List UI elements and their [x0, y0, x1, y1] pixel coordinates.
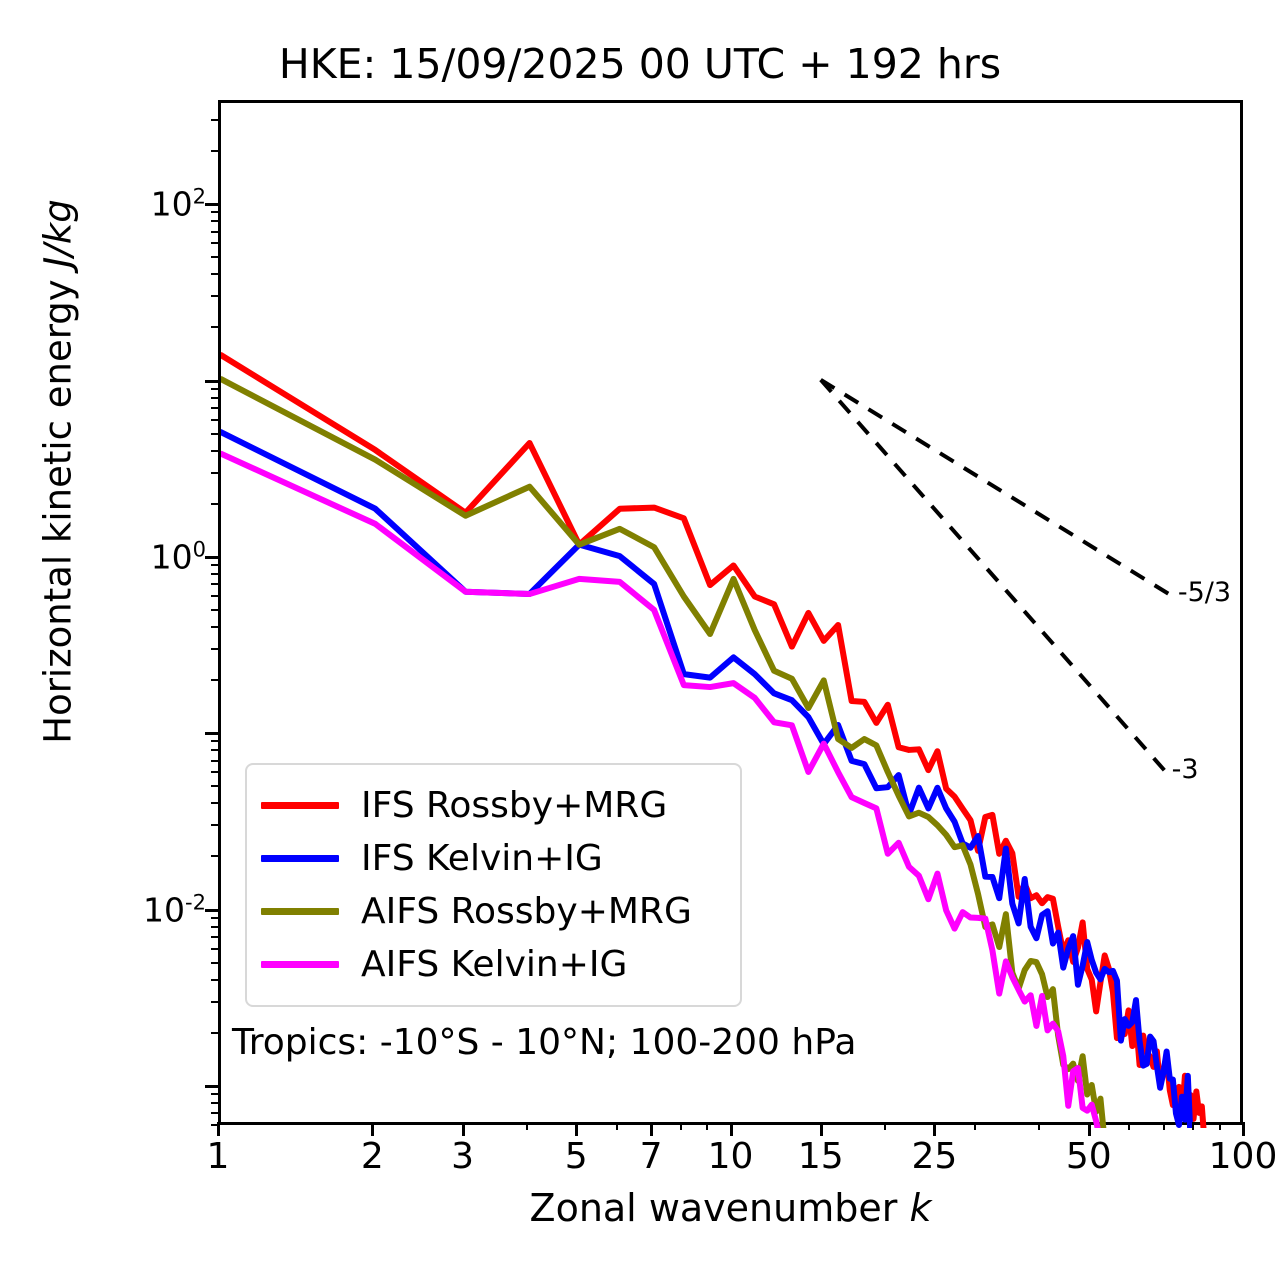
reference-slope-line	[821, 380, 1173, 597]
x-axis-tick-label: 7	[640, 1136, 663, 1177]
x-axis-tick	[371, 1122, 374, 1136]
y-axis-tick	[205, 556, 219, 559]
y-axis-minor-tick	[211, 771, 219, 773]
x-axis-minor-tick	[706, 1122, 708, 1130]
x-axis-tick-label: 2	[361, 1136, 384, 1177]
x-axis-tick	[730, 1122, 733, 1136]
x-axis-minor-tick	[1038, 1122, 1040, 1130]
y-axis-minor-tick	[211, 273, 219, 275]
y-axis-minor-tick	[211, 583, 219, 585]
y-axis-minor-tick	[211, 150, 219, 152]
y-axis-minor-tick	[211, 503, 219, 505]
x-axis-tick	[575, 1122, 578, 1136]
y-axis-minor-tick	[211, 648, 219, 650]
y-axis-minor-tick	[211, 948, 219, 950]
x-axis-label: Zonal wavenumber k	[218, 1186, 1243, 1230]
y-axis-minor-tick	[211, 979, 219, 981]
y-axis-label-units: J/kg	[37, 199, 80, 267]
y-axis-minor-tick	[211, 917, 219, 919]
y-axis-minor-tick	[211, 1102, 219, 1104]
y-axis-minor-tick	[211, 564, 219, 566]
y-axis-minor-tick	[211, 119, 219, 121]
x-axis-tick-label: 1	[207, 1136, 230, 1177]
x-axis-label-text: Zonal wavenumber	[530, 1186, 910, 1230]
x-axis-tick-label: 3	[451, 1136, 474, 1177]
x-axis-tick	[650, 1122, 653, 1136]
y-axis-minor-tick	[211, 450, 219, 452]
x-axis-tick	[1088, 1122, 1091, 1136]
y-axis-minor-tick	[211, 824, 219, 826]
y-axis-tick	[205, 1085, 219, 1088]
y-axis-minor-tick	[211, 1093, 219, 1095]
x-axis-minor-tick	[1219, 1122, 1221, 1130]
y-axis-minor-tick	[211, 388, 219, 390]
x-axis-tick	[462, 1122, 465, 1136]
y-axis-minor-tick	[211, 472, 219, 474]
y-axis-minor-tick	[211, 926, 219, 928]
x-axis-minor-tick	[884, 1122, 886, 1130]
y-axis-minor-tick	[211, 1032, 219, 1034]
x-axis-minor-tick	[1163, 1122, 1165, 1130]
legend-item-label: IFS Kelvin+IG	[361, 838, 603, 879]
x-axis-tick	[820, 1122, 823, 1136]
legend: IFS Rossby+MRGIFS Kelvin+IGAIFS Rossby+M…	[245, 763, 742, 1007]
x-axis-tick-label: 5	[565, 1136, 588, 1177]
y-axis-minor-tick	[211, 595, 219, 597]
y-axis-minor-tick	[211, 220, 219, 222]
y-axis-minor-tick	[211, 1001, 219, 1003]
y-axis-minor-tick	[211, 231, 219, 233]
y-axis-label: Horizontal kinetic energy J/kg	[37, 92, 80, 852]
y-axis-minor-tick	[211, 573, 219, 575]
x-axis-tick-label: 15	[798, 1136, 844, 1177]
x-axis-minor-tick	[616, 1122, 618, 1130]
y-axis-minor-tick	[211, 211, 219, 213]
legend-item-label: IFS Rossby+MRG	[361, 785, 667, 826]
region-annotation: Tropics: -10°S - 10°N; 100-200 hPa	[232, 1022, 856, 1063]
y-axis-minor-tick	[211, 295, 219, 297]
legend-color-swatch	[261, 961, 339, 968]
y-axis-tick	[205, 909, 219, 912]
x-axis-tick-label: 50	[1066, 1136, 1112, 1177]
y-axis-minor-tick	[211, 855, 219, 857]
slope-label-minus-three: -3	[1172, 754, 1199, 785]
y-axis-minor-tick	[211, 419, 219, 421]
x-axis-minor-tick	[1192, 1122, 1194, 1130]
series-layer	[221, 355, 1205, 1128]
legend-color-swatch	[261, 855, 339, 862]
chart-title: HKE: 15/09/2025 00 UTC + 192 hrs	[0, 40, 1280, 88]
y-axis-minor-tick	[211, 1124, 219, 1126]
x-axis-tick	[933, 1122, 936, 1136]
y-axis-tick	[205, 380, 219, 383]
y-axis-minor-tick	[211, 740, 219, 742]
y-axis-minor-tick	[211, 785, 219, 787]
legend-item[interactable]: IFS Rossby+MRG	[261, 779, 722, 832]
y-axis-label-text: Horizontal kinetic energy	[37, 268, 80, 744]
y-axis-minor-tick	[211, 802, 219, 804]
chart-page: HKE: 15/09/2025 00 UTC + 192 hrs 1235710…	[0, 0, 1280, 1288]
y-axis-tick-label: 10-2	[46, 890, 206, 929]
x-axis-minor-tick	[680, 1122, 682, 1130]
x-axis-minor-tick	[974, 1122, 976, 1130]
y-axis-minor-tick	[211, 1112, 219, 1114]
y-axis-minor-tick	[211, 626, 219, 628]
x-axis-tick-label: 10	[708, 1136, 754, 1177]
series-line	[221, 379, 1105, 1128]
y-axis-minor-tick	[211, 609, 219, 611]
legend-item[interactable]: IFS Kelvin+IG	[261, 832, 722, 885]
x-axis-tick-label: 100	[1209, 1136, 1278, 1177]
y-axis-tick	[205, 732, 219, 735]
y-axis-minor-tick	[211, 407, 219, 409]
y-axis-tick	[205, 203, 219, 206]
y-axis-minor-tick	[211, 679, 219, 681]
y-axis-minor-tick	[211, 397, 219, 399]
legend-color-swatch	[261, 802, 339, 809]
y-axis-minor-tick	[211, 760, 219, 762]
x-axis-tick	[1242, 1122, 1245, 1136]
slope-label-five-thirds: -5/3	[1178, 577, 1231, 608]
x-axis-minor-tick	[526, 1122, 528, 1130]
legend-item[interactable]: AIFS Rossby+MRG	[261, 885, 722, 938]
x-axis-label-symbol: k	[909, 1186, 931, 1230]
legend-color-swatch	[261, 908, 339, 915]
y-axis-minor-tick	[211, 242, 219, 244]
y-axis-minor-tick	[211, 962, 219, 964]
y-axis-minor-tick	[211, 433, 219, 435]
legend-item-label: AIFS Kelvin+IG	[361, 944, 627, 985]
y-axis-minor-tick	[211, 256, 219, 258]
legend-item[interactable]: AIFS Kelvin+IG	[261, 938, 722, 991]
x-axis-tick-label: 25	[912, 1136, 958, 1177]
legend-item-label: AIFS Rossby+MRG	[361, 891, 692, 932]
y-axis-minor-tick	[211, 326, 219, 328]
x-axis-minor-tick	[1128, 1122, 1130, 1130]
y-axis-minor-tick	[211, 936, 219, 938]
y-axis-minor-tick	[211, 749, 219, 751]
